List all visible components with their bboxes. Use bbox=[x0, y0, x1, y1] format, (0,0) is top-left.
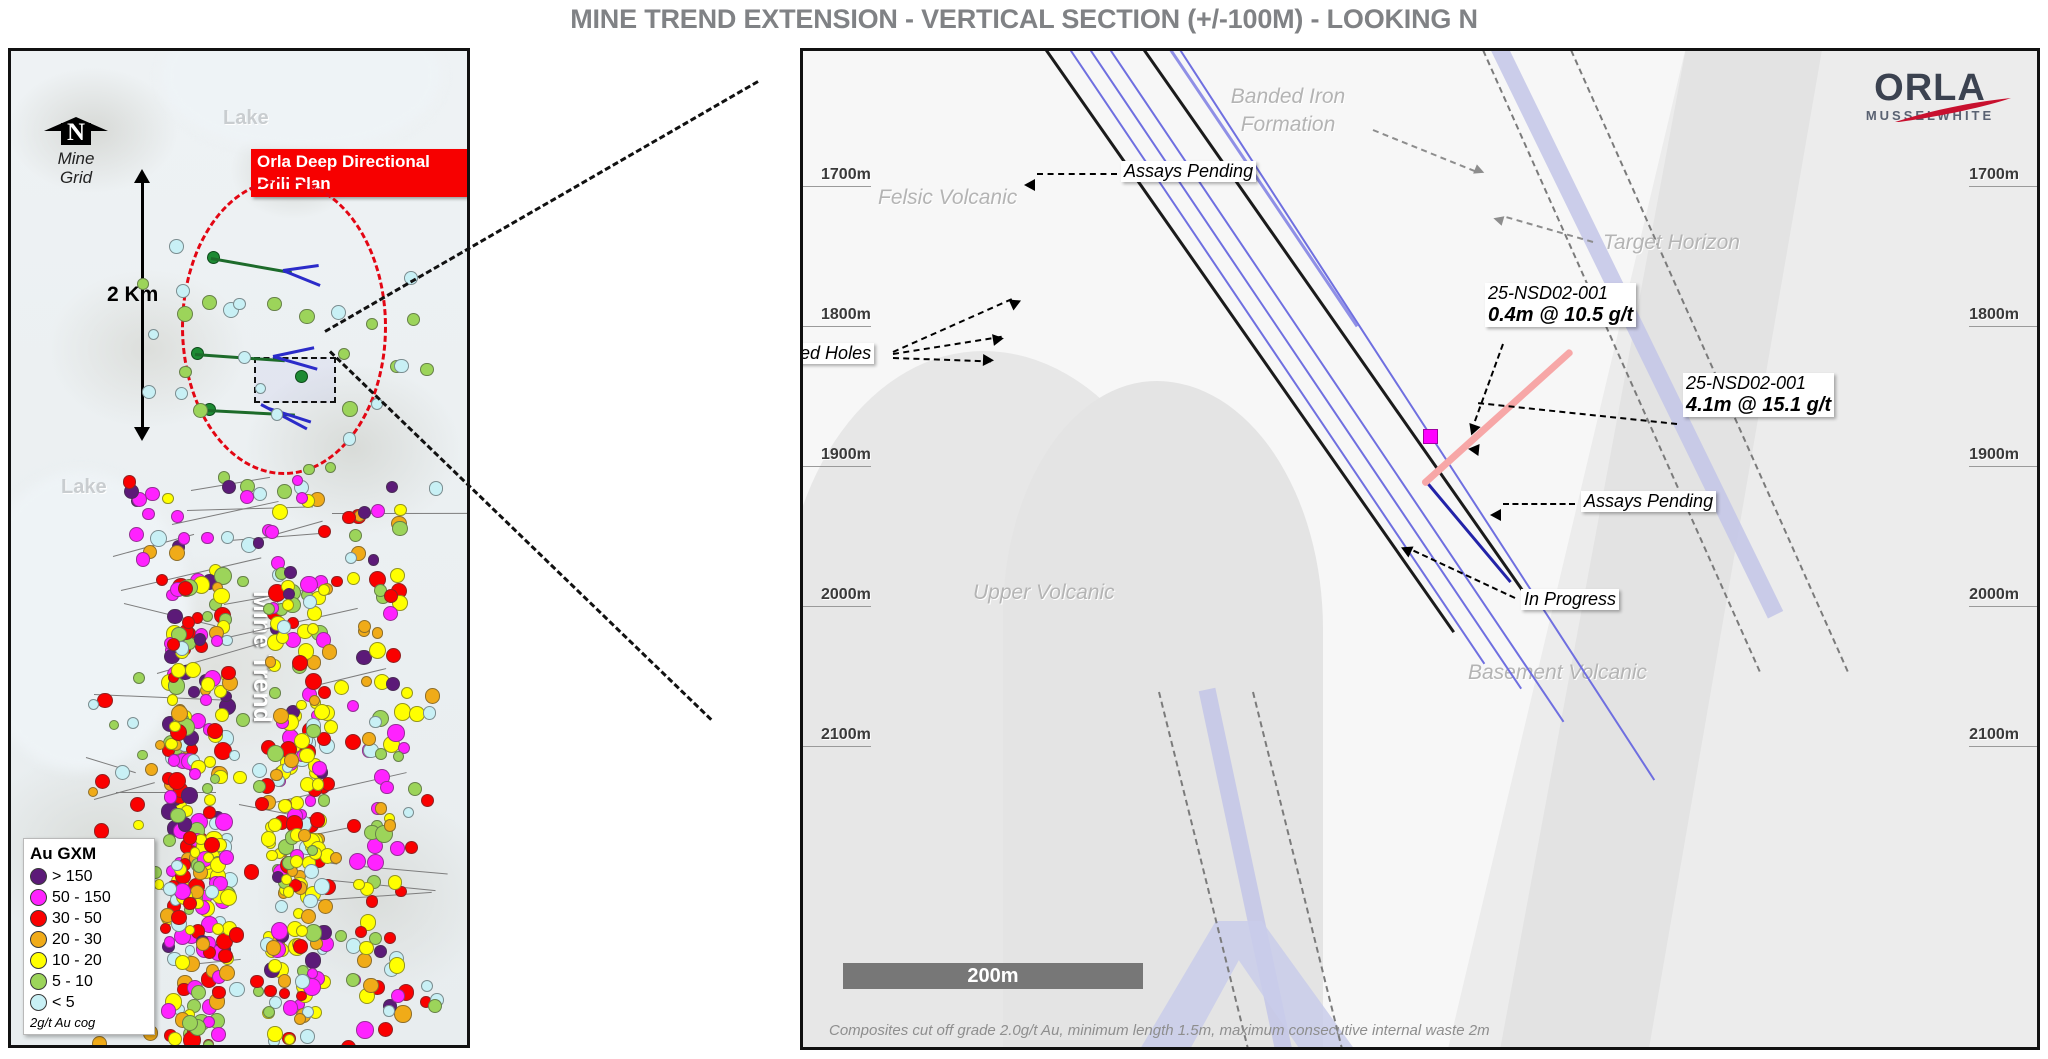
au-gxm-dot bbox=[267, 745, 284, 762]
au-gxm-dot bbox=[299, 309, 315, 325]
legend-row: 20 - 30 bbox=[30, 929, 148, 950]
au-gxm-dot bbox=[229, 982, 245, 998]
legend-row: 5 - 10 bbox=[30, 971, 148, 992]
legend-swatch-icon bbox=[30, 868, 47, 885]
legend-row: > 150 bbox=[30, 866, 148, 887]
au-gxm-dot bbox=[368, 554, 379, 565]
annotation-in-progress: In Progress bbox=[1521, 589, 1619, 610]
au-gxm-dot bbox=[133, 820, 143, 830]
au-gxm-dot bbox=[160, 923, 171, 934]
au-gxm-dot bbox=[296, 991, 307, 1002]
au-gxm-dot bbox=[154, 879, 165, 890]
au-gxm-dot bbox=[294, 733, 310, 749]
depth-tick-right bbox=[1969, 186, 2037, 187]
au-gxm-dot bbox=[284, 566, 297, 579]
banner-line-1: Orla Deep Directional bbox=[257, 151, 462, 173]
legend-swatch-icon bbox=[30, 973, 47, 990]
au-gxm-dot bbox=[190, 847, 200, 857]
au-gxm-dot bbox=[420, 363, 433, 376]
au-gxm-dot bbox=[318, 584, 330, 596]
depth-label-left: 2000m bbox=[821, 586, 871, 604]
au-gxm-dot bbox=[188, 686, 200, 698]
au-gxm-dot bbox=[296, 925, 308, 937]
unit-label-target-horizon: Target Horizon bbox=[1603, 231, 1740, 255]
au-gxm-dot bbox=[358, 506, 371, 519]
au-gxm-dot bbox=[203, 1040, 215, 1048]
au-gxm-dot bbox=[363, 978, 379, 994]
au-gxm-dot bbox=[271, 922, 289, 940]
au-gxm-dot bbox=[388, 875, 402, 889]
mineralised-intercept bbox=[1421, 348, 1574, 487]
au-gxm-dot bbox=[266, 850, 278, 862]
bif-leader-arrow bbox=[1473, 164, 1486, 177]
au-gxm-dot bbox=[384, 819, 397, 832]
au-gxm-dot bbox=[334, 680, 349, 695]
au-gxm-dot bbox=[347, 700, 359, 712]
au-gxm-dot bbox=[408, 782, 422, 796]
au-gxm-dot bbox=[375, 748, 387, 760]
au-gxm-dot bbox=[170, 808, 185, 823]
au-gxm-dot bbox=[94, 823, 110, 839]
au-gxm-dot bbox=[359, 941, 374, 956]
north-letter: N bbox=[44, 119, 108, 147]
intercept-2-hole-id: 25-NSD02-001 bbox=[1683, 373, 1834, 394]
au-gxm-dot bbox=[357, 953, 372, 968]
au-gxm-dot bbox=[218, 949, 232, 963]
au-gxm-dot bbox=[164, 936, 175, 947]
planned-holes-arrow-c bbox=[983, 354, 994, 366]
au-gxm-dot bbox=[229, 927, 244, 942]
intercept-label-2: 25-NSD02-001 4.1m @ 15.1 g/t bbox=[1683, 373, 1834, 417]
depth-tick-left bbox=[803, 746, 871, 747]
au-gxm-dot bbox=[384, 589, 398, 603]
au-gxm-dot bbox=[264, 985, 276, 997]
au-gxm-dot bbox=[322, 644, 337, 659]
au-gxm-dot bbox=[300, 1029, 315, 1044]
au-gxm-dot bbox=[212, 923, 224, 935]
au-gxm-dot bbox=[271, 408, 283, 420]
au-gxm-dot bbox=[372, 627, 384, 639]
intercept-label-1: 25-NSD02-001 0.4m @ 10.5 g/t bbox=[1485, 283, 1636, 327]
depth-label-left: 1900m bbox=[821, 446, 871, 464]
au-gxm-dot bbox=[115, 765, 130, 780]
planned-holes-arrow-a bbox=[1009, 295, 1024, 310]
legend-label: 5 - 10 bbox=[52, 973, 93, 991]
au-gxm-dot bbox=[346, 973, 360, 987]
au-gxm-dot bbox=[205, 885, 219, 899]
au-gxm-dot bbox=[182, 1015, 198, 1031]
au-gxm-dot bbox=[196, 937, 210, 951]
au-gxm-dot bbox=[272, 504, 288, 520]
au-gxm-dot bbox=[200, 694, 212, 706]
page-title: MINE TREND EXTENSION - VERTICAL SECTION … bbox=[0, 4, 2048, 35]
au-gxm-dot bbox=[88, 699, 99, 710]
au-gxm-dot bbox=[362, 732, 376, 746]
au-gxm-dot bbox=[204, 794, 216, 806]
au-gxm-dot bbox=[405, 841, 418, 854]
au-gxm-dot bbox=[168, 1032, 182, 1046]
au-gxm-dot bbox=[191, 985, 206, 1000]
au-gxm-dot bbox=[169, 239, 184, 254]
au-gxm-dot bbox=[309, 695, 320, 706]
depth-label-right: 1700m bbox=[1969, 166, 2019, 184]
swoosh-svg bbox=[1893, 97, 2013, 123]
au-gxm-dot bbox=[281, 874, 292, 885]
au-gxm-dot bbox=[303, 595, 317, 609]
au-gxm-dot bbox=[374, 945, 387, 958]
au-gxm-dot bbox=[301, 909, 316, 924]
depth-label-left: 1800m bbox=[821, 306, 871, 324]
north-arrow: N Mine Grid bbox=[41, 109, 111, 187]
annotation-assays-pending-upper: Assays Pending bbox=[1121, 161, 1256, 182]
au-gxm-dot bbox=[378, 1022, 393, 1037]
lake-label-top: Lake bbox=[223, 107, 269, 130]
au-gxm-dot bbox=[425, 688, 441, 704]
intercept-2-arrow bbox=[1467, 443, 1479, 456]
au-gxm-dot bbox=[307, 623, 319, 635]
au-gxm-dot bbox=[331, 576, 343, 588]
depth-tick-right bbox=[1969, 606, 2037, 607]
unit-label-felsic-volcanic: Felsic Volcanic bbox=[878, 186, 1017, 210]
au-gxm-dot bbox=[255, 797, 269, 811]
au-gxm-dot bbox=[211, 1027, 226, 1042]
annotation-planned-holes: Planned Holes bbox=[800, 343, 874, 364]
legend-row: < 5 bbox=[30, 992, 148, 1013]
au-gxm-dot bbox=[394, 1005, 411, 1022]
au-gxm-dot bbox=[213, 588, 230, 605]
depth-label-right: 1800m bbox=[1969, 306, 2019, 324]
au-gxm-dot bbox=[325, 462, 336, 473]
two-km-label: 2 Km bbox=[107, 283, 158, 307]
depth-label-right: 2000m bbox=[1969, 586, 2019, 604]
au-gxm-dot bbox=[183, 897, 196, 910]
intercept-2-result: 4.1m @ 15.1 g/t bbox=[1683, 394, 1834, 417]
au-gxm-dot bbox=[142, 385, 156, 399]
au-gxm-dot bbox=[212, 986, 225, 999]
legend-label: 10 - 20 bbox=[52, 952, 102, 970]
legend-row: 10 - 20 bbox=[30, 950, 148, 971]
au-gxm-dot bbox=[389, 957, 406, 974]
au-gxm-dot bbox=[185, 945, 195, 955]
orla-logo: ORLA MUSSELWHITE bbox=[1841, 69, 2019, 123]
au-gxm-dot bbox=[267, 297, 281, 311]
orla-swoosh-icon bbox=[1893, 97, 2013, 123]
au-gxm-dot bbox=[428, 999, 442, 1013]
au-gxm-dot bbox=[283, 886, 294, 897]
plan-map-panel: Lake Lake N Mine Grid Orla Deep Directio… bbox=[8, 48, 470, 1048]
au-gxm-dot bbox=[253, 537, 264, 548]
au-gxm-legend: Au GXM > 15050 - 15030 - 5020 - 3010 - 2… bbox=[23, 838, 155, 1035]
au-gxm-dot bbox=[193, 861, 205, 873]
mine-grid-label-2: Grid bbox=[41, 168, 111, 187]
au-gxm-dot bbox=[203, 806, 215, 818]
vertical-section-panel: 1700m1800m1900m2000m2100m 1700m1800m1900… bbox=[800, 48, 2040, 1050]
unit-label-basement-volcanic: Basement Volcanic bbox=[1468, 661, 1647, 685]
au-gxm-dot bbox=[278, 974, 291, 987]
au-gxm-dot bbox=[298, 829, 311, 842]
au-gxm-dot bbox=[421, 980, 433, 992]
assays-pending-lower-leader bbox=[1503, 503, 1575, 505]
au-gxm-dot bbox=[181, 787, 198, 804]
legend-label: 50 - 150 bbox=[52, 889, 111, 907]
au-gxm-dot bbox=[407, 313, 420, 326]
au-gxm-dot bbox=[371, 504, 385, 518]
au-gxm-dot bbox=[269, 687, 281, 699]
depth-tick-left bbox=[803, 186, 871, 187]
north-arrow-icon: N bbox=[44, 109, 108, 145]
au-gxm-dot bbox=[207, 723, 223, 739]
au-gxm-dot bbox=[145, 487, 159, 501]
au-gxm-dot bbox=[164, 790, 177, 803]
au-gxm-dot bbox=[237, 576, 249, 588]
legend-swatch-icon bbox=[30, 931, 47, 948]
au-gxm-dot bbox=[137, 278, 149, 290]
legend-swatch-icon bbox=[30, 994, 47, 1011]
depth-tick-right bbox=[1969, 466, 2037, 467]
legend-swatch-icon bbox=[30, 910, 47, 927]
au-gxm-dot bbox=[219, 965, 235, 981]
au-gxm-dot bbox=[310, 812, 326, 828]
depth-label-left: 1700m bbox=[821, 166, 871, 184]
au-gxm-dot bbox=[312, 778, 325, 791]
mine-grid-label-1: Mine bbox=[41, 149, 111, 168]
bif-leader-line bbox=[1373, 129, 1476, 172]
au-gxm-dot bbox=[136, 552, 151, 567]
au-gxm-dot bbox=[356, 1021, 374, 1039]
au-gxm-dot bbox=[392, 521, 407, 536]
au-gxm-dot bbox=[295, 974, 310, 989]
au-gxm-dot bbox=[266, 940, 281, 955]
drill-collar bbox=[295, 370, 308, 383]
au-gxm-dot bbox=[361, 676, 372, 687]
au-gxm-dot bbox=[265, 525, 279, 539]
legend-row: 50 - 150 bbox=[30, 887, 148, 908]
au-gxm-dot bbox=[391, 989, 405, 1003]
au-gxm-dot bbox=[403, 807, 414, 818]
au-gxm-dot bbox=[202, 295, 217, 310]
legend-rows: > 15050 - 15030 - 5020 - 3010 - 205 - 10… bbox=[30, 866, 148, 1013]
au-gxm-dot bbox=[204, 837, 220, 853]
au-gxm-dot bbox=[229, 750, 240, 761]
au-gxm-dot bbox=[97, 693, 112, 708]
target-horizon-leader-arrow bbox=[1492, 213, 1504, 225]
au-gxm-dot bbox=[335, 930, 347, 942]
au-gxm-dot bbox=[233, 771, 246, 784]
au-gxm-dot bbox=[369, 716, 381, 728]
au-gxm-dot bbox=[300, 576, 317, 593]
au-gxm-dot bbox=[145, 763, 158, 776]
planned-holes-arrow-b bbox=[992, 332, 1005, 346]
au-gxm-dot bbox=[267, 1026, 282, 1041]
legend-row: 30 - 50 bbox=[30, 908, 148, 929]
au-gxm-dot bbox=[201, 677, 216, 692]
depth-tick-left bbox=[803, 466, 871, 467]
au-gxm-dot bbox=[240, 490, 254, 504]
au-gxm-dot bbox=[109, 720, 119, 730]
legend-label: > 150 bbox=[52, 868, 92, 886]
au-gxm-dot bbox=[343, 432, 356, 445]
assays-pending-upper-arrow bbox=[1024, 179, 1035, 191]
section-scale-bar: 200m bbox=[843, 963, 1143, 989]
high-grade-intercept-marker bbox=[1423, 429, 1438, 444]
au-gxm-dot bbox=[366, 318, 378, 330]
au-gxm-dot bbox=[290, 855, 303, 868]
au-gxm-dot bbox=[88, 787, 98, 797]
au-gxm-dot bbox=[366, 895, 378, 907]
au-gxm-dot bbox=[169, 721, 180, 732]
au-gxm-dot bbox=[215, 708, 229, 722]
au-gxm-dot bbox=[162, 493, 173, 504]
annotation-assays-pending-lower: Assays Pending bbox=[1581, 491, 1716, 512]
lake-label-left: Lake bbox=[61, 476, 107, 499]
au-gxm-dot bbox=[296, 700, 306, 710]
au-gxm-dot bbox=[423, 706, 436, 719]
assays-pending-lower-arrow bbox=[1490, 509, 1501, 521]
au-gxm-dot bbox=[338, 348, 350, 360]
au-gxm-dot bbox=[161, 1003, 177, 1019]
legend-title: Au GXM bbox=[30, 844, 148, 864]
depth-tick-left bbox=[803, 606, 871, 607]
au-gxm-dot bbox=[169, 545, 185, 561]
legend-swatch-icon bbox=[30, 952, 47, 969]
intercept-1-result: 0.4m @ 10.5 g/t bbox=[1485, 304, 1636, 327]
au-gxm-dot bbox=[123, 475, 137, 489]
au-gxm-dot bbox=[194, 633, 206, 645]
depth-tick-right bbox=[1969, 326, 2037, 327]
assays-pending-upper-leader bbox=[1037, 173, 1117, 175]
legend-label: 30 - 50 bbox=[52, 910, 102, 928]
depth-label-right: 2100m bbox=[1969, 726, 2019, 744]
au-gxm-dot bbox=[369, 642, 386, 659]
au-gxm-dot bbox=[201, 532, 214, 545]
au-gxm-dot bbox=[221, 666, 235, 680]
section-footer-note: Composites cut off grade 2.0g/t Au, mini… bbox=[829, 1022, 1490, 1039]
au-gxm-dot bbox=[303, 894, 318, 909]
intercept-1-hole-id: 25-NSD02-001 bbox=[1485, 283, 1636, 304]
au-gxm-dot bbox=[390, 841, 405, 856]
au-gxm-dot bbox=[318, 899, 333, 914]
au-gxm-dot bbox=[211, 635, 223, 647]
au-gxm-dot bbox=[137, 750, 148, 761]
depth-label-right: 1900m bbox=[1969, 446, 2019, 464]
au-gxm-dot bbox=[375, 802, 387, 814]
au-gxm-dot bbox=[95, 774, 110, 789]
au-gxm-dot bbox=[155, 740, 165, 750]
au-gxm-dot bbox=[401, 687, 413, 699]
au-gxm-dot bbox=[299, 748, 315, 764]
au-gxm-dot bbox=[304, 864, 319, 879]
au-gxm-dot bbox=[176, 284, 190, 298]
depth-label-left: 2100m bbox=[821, 726, 871, 744]
au-gxm-dot bbox=[314, 704, 330, 720]
target-area-ellipse bbox=[181, 179, 387, 475]
depth-tick-right bbox=[1969, 746, 2037, 747]
unit-label-upper-volcanic: Upper Volcanic bbox=[973, 581, 1115, 605]
au-gxm-dot bbox=[168, 772, 186, 790]
au-gxm-dot bbox=[318, 525, 331, 538]
legend-label: < 5 bbox=[52, 994, 75, 1012]
au-gxm-dot bbox=[342, 401, 358, 417]
au-gxm-dot bbox=[387, 724, 404, 741]
au-gxm-dot bbox=[221, 531, 234, 544]
au-gxm-dot bbox=[429, 481, 444, 496]
au-gxm-dot bbox=[293, 939, 308, 954]
legend-cutoff-note: 2g/t Au cog bbox=[30, 1015, 148, 1030]
au-gxm-dot bbox=[347, 572, 360, 585]
au-gxm-dot bbox=[314, 878, 330, 894]
au-gxm-dot bbox=[142, 508, 155, 521]
legend-swatch-icon bbox=[30, 889, 47, 906]
au-gxm-dot bbox=[284, 753, 298, 767]
au-gxm-dot bbox=[383, 1005, 394, 1016]
au-gxm-dot bbox=[193, 403, 208, 418]
au-gxm-dot bbox=[177, 306, 193, 322]
au-gxm-dot bbox=[189, 768, 201, 780]
au-gxm-dot bbox=[261, 831, 276, 846]
au-gxm-dot bbox=[168, 754, 181, 767]
au-gxm-dot bbox=[270, 769, 283, 782]
au-gxm-dot bbox=[312, 761, 327, 776]
legend-label: 20 - 30 bbox=[52, 931, 102, 949]
au-gxm-dot bbox=[268, 818, 282, 832]
au-gxm-dot bbox=[167, 609, 182, 624]
depth-tick-left bbox=[803, 326, 871, 327]
au-gxm-dot bbox=[127, 717, 139, 729]
au-gxm-dot bbox=[92, 1036, 107, 1048]
au-gxm-dot bbox=[292, 655, 308, 671]
au-gxm-dot bbox=[277, 620, 291, 634]
au-gxm-dot bbox=[250, 975, 263, 988]
au-gxm-dot bbox=[394, 504, 407, 517]
au-gxm-dot bbox=[238, 351, 251, 364]
au-gxm-dot bbox=[253, 780, 266, 793]
au-gxm-dot bbox=[156, 574, 168, 586]
au-gxm-dot bbox=[175, 387, 188, 400]
